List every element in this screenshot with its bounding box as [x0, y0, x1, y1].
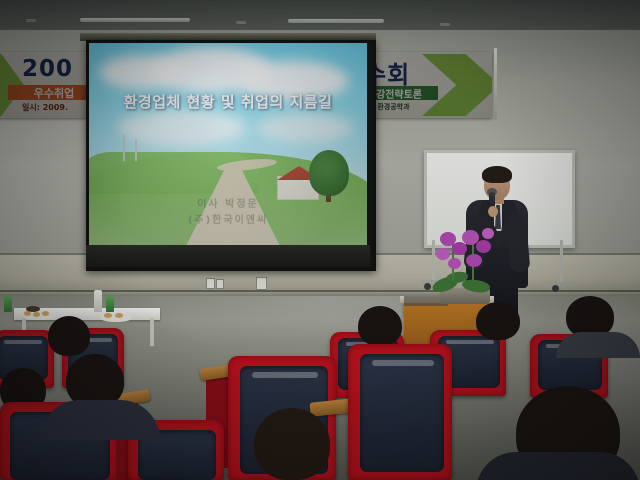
bottle-green-2	[106, 296, 114, 312]
banner-left-year: 200	[22, 56, 73, 82]
whiteboard-leg-right	[560, 240, 563, 284]
orchid-bloom-7	[448, 258, 461, 269]
audience-head-foreground	[254, 408, 330, 480]
seat-highlight	[4, 340, 42, 344]
slide-title: 환경업체 현황 및 취업의 지름길	[89, 91, 367, 112]
ceiling-light-5	[440, 23, 450, 26]
slide-tree	[309, 150, 349, 196]
screen-lower-frame	[86, 245, 370, 267]
orchid-bloom-8	[482, 228, 494, 239]
wall-outlet-1	[206, 278, 215, 289]
bottle-white	[94, 290, 102, 312]
lecture-hall-photo: 200 우수취업 일시: 2009. 수회 강전략토론 학교 환경공학과 환경업…	[0, 0, 640, 480]
seat-pad	[360, 354, 444, 472]
slide-presenter-line: 이사 박정문	[89, 195, 367, 210]
snack-2	[33, 312, 40, 317]
wall-mounted-pole	[494, 48, 497, 120]
ceiling-light-1	[80, 18, 190, 22]
seat-highlight	[252, 372, 318, 378]
orchid-bloom-6	[466, 254, 482, 267]
wall-outlet-3	[256, 277, 267, 290]
bottle-green-1	[4, 296, 12, 312]
ceiling-light-2	[288, 19, 384, 23]
whiteboard-leg-left	[432, 240, 435, 282]
audience-shoulders-foreground	[40, 400, 160, 440]
audience-shoulders-foreground	[476, 452, 640, 480]
ceiling-light-3	[26, 19, 36, 22]
whiteboard-wheel-left	[424, 283, 431, 290]
snack-5	[115, 313, 123, 318]
seat-highlight	[372, 360, 434, 366]
banner-right-chevron-icon	[422, 54, 492, 116]
speaker-hand	[488, 206, 498, 217]
audience-shoulders	[556, 332, 640, 358]
audience-head	[48, 316, 90, 356]
wall-outlet-2	[216, 279, 224, 289]
orchid-bloom-5	[436, 248, 450, 260]
orchid-bloom-2	[452, 242, 467, 255]
ceiling	[0, 0, 640, 34]
slide-cloud-5	[257, 113, 353, 143]
seat-highlight	[446, 340, 494, 344]
snack-3	[42, 311, 49, 316]
banner-left-date: 일시: 2009.	[22, 102, 68, 113]
slide-pole-2	[135, 139, 137, 161]
ceiling-light-4	[236, 21, 246, 24]
projection-screen-surface: 환경업체 현황 및 취업의 지름길 이사 박정문 (주)한국이엔씨	[89, 43, 367, 248]
orchid-bloom-4	[476, 240, 491, 253]
speaker-hair	[482, 166, 512, 183]
slide-company-line: (주)한국이엔씨	[89, 211, 367, 226]
snack-dark	[26, 306, 40, 312]
audience-head	[476, 302, 520, 340]
whiteboard-wheel-right	[552, 285, 559, 292]
table-leg-right	[150, 318, 154, 346]
audience-head	[358, 306, 402, 346]
slide-pole-1	[123, 135, 125, 161]
snack-4	[104, 313, 112, 318]
